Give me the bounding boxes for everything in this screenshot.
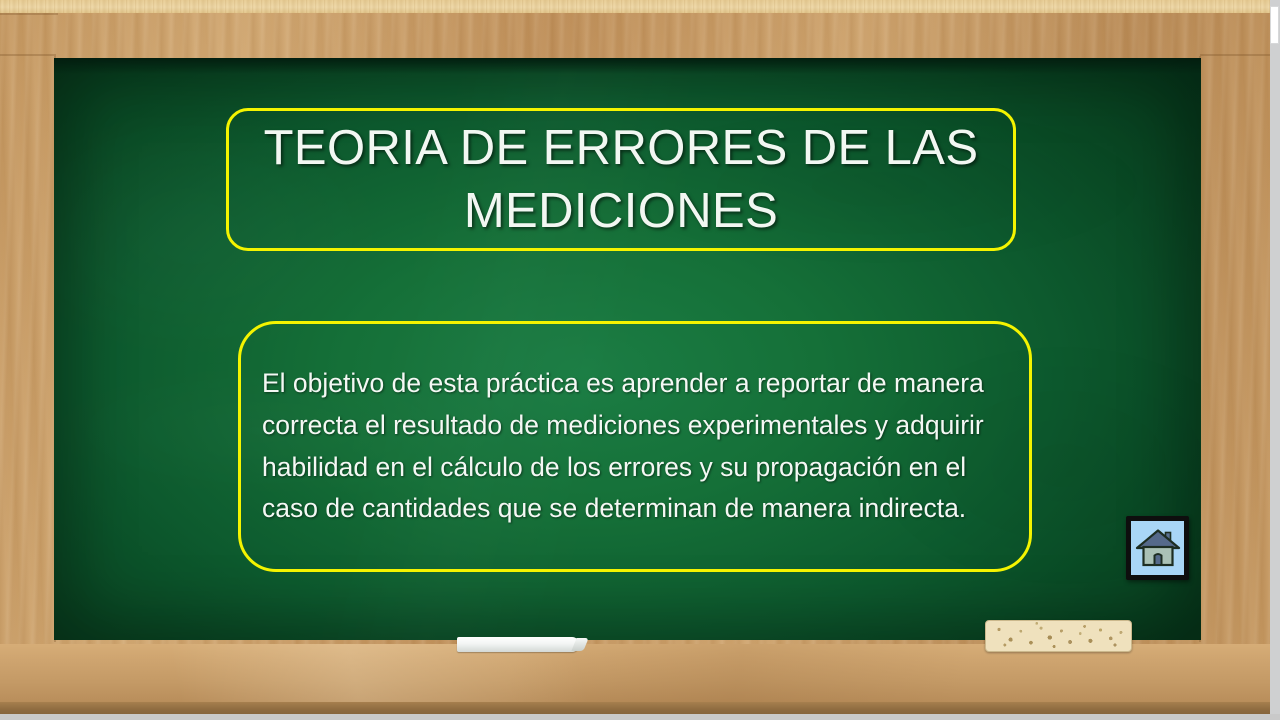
frame-mitre-top-left — [0, 13, 58, 15]
frame-top-light-band — [0, 0, 1272, 13]
page-bottom-edge — [0, 714, 1280, 720]
home-button[interactable] — [1126, 516, 1189, 580]
chalk-stick — [457, 637, 579, 652]
slide-stage: TEORIA DE ERRORES DE LAS MEDICIONES El o… — [0, 0, 1280, 720]
body-paragraph: El objetivo de esta práctica es aprender… — [241, 363, 1029, 530]
frame-mitre-corner-tl — [0, 54, 56, 56]
sponge-eraser — [985, 620, 1132, 652]
home-icon — [1135, 527, 1181, 569]
chalk-ledge-grain — [0, 644, 1272, 702]
frame-mitre-corner-tr — [1200, 54, 1272, 56]
vertical-scrollbar-track[interactable] — [1270, 0, 1280, 720]
page-title: TEORIA DE ERRORES DE LAS MEDICIONES — [229, 117, 1013, 242]
body-callout-box: El objetivo de esta práctica es aprender… — [238, 321, 1032, 572]
sponge-eraser-texture — [986, 621, 1131, 651]
title-callout-box: TEORIA DE ERRORES DE LAS MEDICIONES — [226, 108, 1016, 251]
home-button-face — [1131, 521, 1184, 575]
vertical-scrollbar-thumb[interactable] — [1270, 6, 1279, 44]
